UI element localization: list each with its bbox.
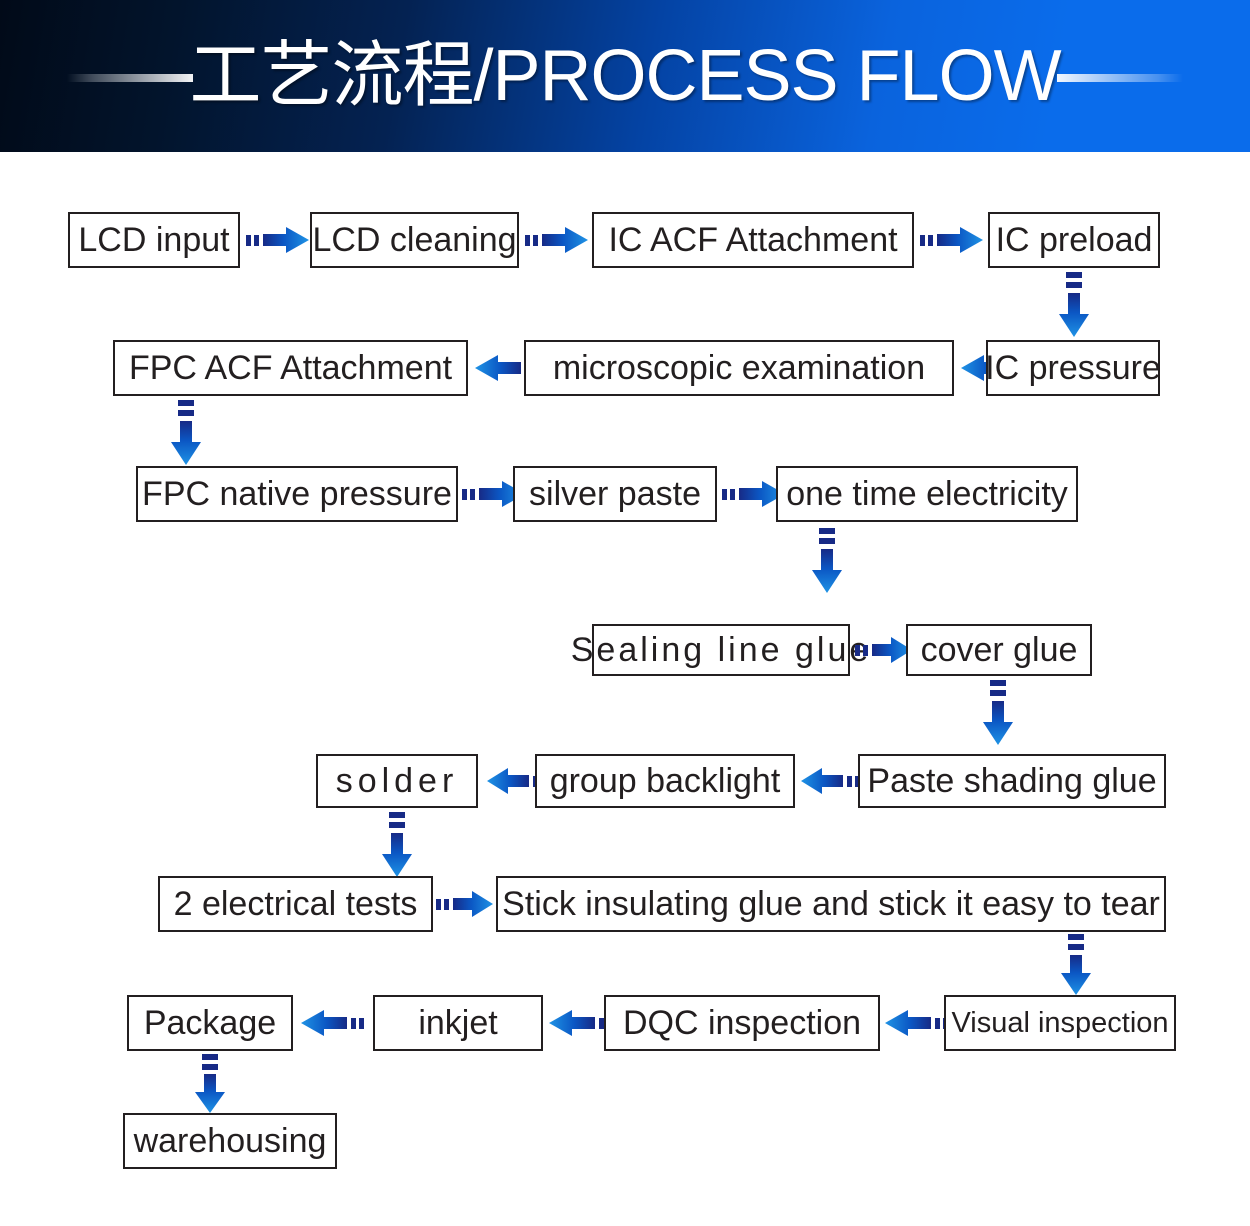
arrow-right-two-electrical-tests-to-stick-insulating-glue: [436, 890, 494, 918]
arrow-right-ic-acf-to-ic-preload: [920, 226, 984, 254]
node-label: LCD cleaning: [312, 223, 516, 257]
page-title: 工艺流程/PROCESS FLOW: [189, 40, 1060, 112]
node-fpc-native-pressure[interactable]: FPC native pressure: [136, 466, 458, 522]
node-silver-paste[interactable]: silver paste: [513, 466, 717, 522]
node-label: LCD input: [78, 223, 229, 257]
node-solder[interactable]: solder: [316, 754, 478, 808]
node-label: warehousing: [134, 1124, 327, 1158]
node-label: microscopic examination: [553, 351, 925, 385]
node-label: inkjet: [418, 1006, 497, 1040]
node-lcd-cleaning[interactable]: LCD cleaning: [310, 212, 519, 268]
node-label: Paste shading glue: [867, 764, 1156, 798]
node-sealing-line-glue[interactable]: Sealing line glue: [592, 624, 850, 676]
node-label: cover glue: [921, 633, 1078, 667]
arrow-down-package-to-warehousing: [194, 1054, 226, 1114]
arrow-right-sealing-line-glue-to-cover-glue: [855, 636, 913, 664]
node-label: silver paste: [529, 477, 701, 511]
node-cover-glue[interactable]: cover glue: [906, 624, 1092, 676]
arrow-down-one-time-electricity-to-sealing-line-glue: [811, 528, 843, 594]
arrow-down-stick-insulating-glue-to-visual-inspection: [1060, 934, 1092, 996]
node-ic-preload[interactable]: IC preload: [988, 212, 1160, 268]
node-label: FPC ACF Attachment: [129, 351, 452, 385]
node-label: solder: [336, 764, 459, 798]
node-label: one time electricity: [786, 477, 1068, 511]
node-label: Package: [144, 1006, 276, 1040]
arrow-left-paste-shading-glue-to-group-backlight: [800, 767, 860, 795]
arrow-right-lcd-input-to-lcd-cleaning: [246, 226, 310, 254]
page-header-banner: 工艺流程/PROCESS FLOW: [0, 0, 1250, 152]
process-flow-page: 工艺流程/PROCESS FLOW LCD input: [0, 0, 1250, 1226]
node-ic-pressure[interactable]: IC pressure: [986, 340, 1160, 396]
arrow-down-solder-to-two-electrical-tests: [381, 812, 413, 878]
node-label: FPC native pressure: [142, 477, 452, 511]
node-microscopic-examination[interactable]: microscopic examination: [524, 340, 954, 396]
node-visual-inspection[interactable]: Visual inspection: [944, 995, 1176, 1051]
arrow-right-lcd-cleaning-to-ic-acf: [525, 226, 589, 254]
arrow-down-fpc-acf-to-fpc-native-pressure: [170, 400, 202, 466]
node-label: Visual inspection: [951, 1009, 1168, 1038]
node-label: DQC inspection: [623, 1006, 861, 1040]
arrow-left-visual-inspection-to-dqc-inspection: [884, 1009, 948, 1037]
arrow-left-inkjet-to-package: [300, 1009, 364, 1037]
node-lcd-input[interactable]: LCD input: [68, 212, 240, 268]
node-two-electrical-tests[interactable]: 2 electrical tests: [158, 876, 433, 932]
node-dqc-inspection[interactable]: DQC inspection: [604, 995, 880, 1051]
header-decor-line-left: [67, 74, 193, 82]
arrow-down-ic-preload-to-ic-pressure: [1058, 272, 1090, 338]
node-label: IC pressure: [985, 351, 1161, 385]
node-label: group backlight: [550, 764, 781, 798]
node-paste-shading-glue[interactable]: Paste shading glue: [858, 754, 1166, 808]
node-label: IC preload: [996, 223, 1153, 257]
node-fpc-acf-attachment[interactable]: FPC ACF Attachment: [113, 340, 468, 396]
node-label: Sealing line glue: [571, 633, 872, 667]
node-label: IC ACF Attachment: [608, 223, 897, 257]
arrow-down-cover-glue-to-paste-shading-glue: [982, 680, 1014, 746]
node-inkjet[interactable]: inkjet: [373, 995, 543, 1051]
node-stick-insulating-glue[interactable]: Stick insulating glue and stick it easy …: [496, 876, 1166, 932]
node-one-time-electricity[interactable]: one time electricity: [776, 466, 1078, 522]
node-warehousing[interactable]: warehousing: [123, 1113, 337, 1169]
node-label: Stick insulating glue and stick it easy …: [502, 887, 1160, 921]
header-decor-line-right: [1057, 74, 1183, 82]
node-group-backlight[interactable]: group backlight: [535, 754, 795, 808]
node-label: 2 electrical tests: [174, 887, 418, 921]
node-package[interactable]: Package: [127, 995, 293, 1051]
node-ic-acf-attachment[interactable]: IC ACF Attachment: [592, 212, 914, 268]
arrow-left-dqc-inspection-to-inkjet: [548, 1009, 612, 1037]
